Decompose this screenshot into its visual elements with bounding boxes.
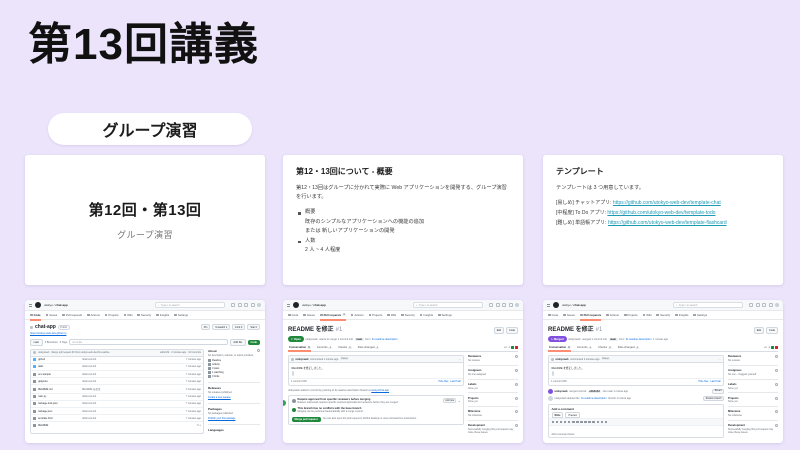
pr-comment: utokyoweb commented 1 minute ago Owner ⋯… <box>288 355 464 386</box>
diff-bar-del <box>515 346 518 349</box>
tab-actions[interactable]: Actions <box>351 313 364 317</box>
gear-icon[interactable] <box>515 424 518 427</box>
tab-projects[interactable]: Projects <box>105 313 119 317</box>
table-row[interactable]: package.jsonInitial commit7 minutes ago <box>31 408 203 415</box>
code-button[interactable]: Code <box>506 327 518 333</box>
fork-icon <box>208 375 211 378</box>
file-commit-message[interactable]: Initial commit <box>82 373 184 376</box>
slide2-title: 第12・13回について - 概要 <box>296 166 510 177</box>
sidebar-section-labels: LabelsNone yet <box>728 383 778 394</box>
repo-nav-tabs: Code Issues Pull requests Actions Projec… <box>543 311 783 320</box>
packages-title: Packages <box>208 407 222 411</box>
template-link-prefix: [易しめ] チャットアプリ: <box>556 200 613 206</box>
gear-icon[interactable] <box>775 355 778 358</box>
plus-icon[interactable] <box>231 303 235 307</box>
tab-preview[interactable]: Preview <box>565 412 580 418</box>
file-name[interactable]: .gitignore <box>38 380 80 383</box>
file-name[interactable]: main.py <box>38 395 80 398</box>
commit-count[interactable]: 10 Commits <box>188 351 201 354</box>
task-list-icon[interactable] <box>584 421 587 424</box>
tab-wiki[interactable]: Wiki <box>643 313 652 317</box>
tab-settings[interactable]: Settings <box>174 313 188 317</box>
avatar[interactable] <box>257 303 261 307</box>
pr-author[interactable]: utokyoweb <box>568 338 580 341</box>
diff-bar-add <box>771 346 774 349</box>
menu-icon[interactable] <box>547 304 550 307</box>
issues-icon[interactable] <box>496 303 500 307</box>
commit-author[interactable]: utokyoweb <box>38 351 49 354</box>
shield-icon <box>137 314 140 317</box>
section-text: No reviews <box>728 359 778 362</box>
pin-button[interactable]: Pin <box>201 324 211 330</box>
list-item[interactable]: Readme <box>208 359 260 362</box>
tab-checks[interactable]: Checks0 <box>337 346 352 349</box>
eye-icon <box>208 371 211 374</box>
diff-bar-del <box>775 346 778 349</box>
badge-count: 1 <box>588 347 592 349</box>
sidebar-section-development: DevelopmentSuccessfully merging this pul… <box>728 424 778 437</box>
tab-label: Conversation <box>549 346 566 349</box>
template-link-chat[interactable]: https://github.com/utokyo-web-dev/templa… <box>613 200 721 206</box>
breadcrumb-repo[interactable]: chat-app <box>55 303 68 307</box>
comment-header: utokyoweb commented 2 minutes ago Owner … <box>549 356 723 363</box>
gear-icon[interactable] <box>515 369 518 372</box>
pr-head-branch[interactable]: fix-readme-description <box>372 338 398 341</box>
file-listing: utokyoweb Merge pull request #2 from uto… <box>30 349 204 434</box>
tags-count[interactable]: 0 Tags <box>60 341 68 344</box>
menu-icon[interactable] <box>29 304 32 307</box>
tab-issues[interactable]: Issues <box>46 313 58 317</box>
table-row[interactable]: package-lock.jsonInitial commit7 minutes… <box>31 401 203 408</box>
section-text: None yet <box>468 387 518 390</box>
pr-number: #1 <box>596 327 603 333</box>
search-placeholder: Type / to search <box>161 304 179 307</box>
avatar[interactable] <box>291 358 294 361</box>
tab-issues[interactable]: Issues <box>563 313 575 317</box>
diff-stat: +2 -1 <box>504 346 518 349</box>
search-input[interactable]: ⌕ Type / to search <box>673 302 743 308</box>
template-link-prefix: [難しめ] 単語帳アプリ: <box>556 220 608 226</box>
slide-card-template[interactable]: テンプレート テンプレートは 3 つ用意しています。 [易しめ] チャットアプリ… <box>543 155 783 285</box>
tab-projects[interactable]: Projects <box>624 313 638 317</box>
file-name[interactable]: .env.sample <box>38 373 80 376</box>
pr-base-branch[interactable]: main <box>355 338 364 341</box>
table-row[interactable]: README.mdREADME を修正2 minutes ago <box>31 385 203 393</box>
pull-request-icon <box>62 314 65 317</box>
last-push-link[interactable]: Last Push <box>710 380 721 383</box>
screenshot-github-pr-open[interactable]: utokyo / chat-app ⌕ Type / to search Cod… <box>283 300 523 443</box>
badge-count: 1 <box>635 347 639 349</box>
play-icon <box>606 314 609 317</box>
file-commit-message[interactable]: README を修正 <box>82 387 184 391</box>
tab-files-changed[interactable]: Files changed1 <box>617 346 639 349</box>
pr-subheader: ⑂Open utokyoweb wants to merge 1 commit … <box>288 336 518 342</box>
file-time: 7 minutes ago <box>186 373 201 376</box>
tab-insights[interactable]: Insights <box>420 313 433 317</box>
tab-label: Pull requests <box>324 313 342 317</box>
comment-author[interactable]: utokyoweb <box>296 358 309 361</box>
languages-section: Languages <box>208 424 260 432</box>
slide2-bullet-label: 人数 <box>296 237 510 246</box>
breadcrumb-owner[interactable]: utokyo <box>44 303 53 307</box>
tab-label: Conversation <box>289 346 306 349</box>
tab-pull-requests[interactable]: Pull requests <box>580 313 601 317</box>
hide-files-link[interactable]: Hide files <box>439 380 449 383</box>
avatar[interactable] <box>515 303 519 307</box>
sidebar-section-reviewers: ReviewersNo reviews <box>468 355 518 366</box>
tab-label: Files changed <box>358 346 375 349</box>
github-logo-icon[interactable] <box>553 302 559 308</box>
section-text: No milestone <box>468 414 518 417</box>
list-item[interactable]: 0 stars <box>208 367 260 370</box>
add-comment-footer: Add a comment below <box>549 433 723 437</box>
pr-header: README を修正 #1 Edit Code <box>288 324 518 334</box>
tab-actions[interactable]: Actions <box>87 313 100 317</box>
pr-title: README を修正 <box>548 324 594 333</box>
delete-event-branch[interactable]: fix-readme-description <box>581 397 607 400</box>
image-icon[interactable] <box>592 421 595 424</box>
github-logo-icon[interactable] <box>293 302 299 308</box>
issues-icon[interactable] <box>756 303 760 307</box>
revert-button[interactable]: Revert <box>712 389 724 394</box>
topbar-icon-group <box>489 303 519 307</box>
repo-header: chat-app Public Pin Unwatch 1 Fork 0 Sta… <box>30 324 260 330</box>
avatar <box>33 351 36 354</box>
folder-icon <box>33 358 36 361</box>
readme-bar[interactable]: README✎ ≡ <box>31 422 203 428</box>
template-link-flashcard[interactable]: https://github.com/utokyo-web-dev/templa… <box>608 220 727 226</box>
languages-heading: Languages <box>208 428 260 432</box>
table-row[interactable]: template.htmlInitial commit7 minutes ago <box>31 415 203 422</box>
file-commit-message[interactable]: Initial commit <box>82 380 184 383</box>
star-button[interactable]: Star 0 <box>247 324 260 330</box>
tab-code[interactable]: Code <box>288 313 298 317</box>
table-icon <box>105 314 108 317</box>
avatar[interactable] <box>775 303 779 307</box>
file-icon <box>33 373 36 376</box>
repo-description-link[interactable]: https://utokyo-web-dev.github.io <box>30 332 260 335</box>
rule-icon <box>292 399 296 403</box>
tab-label: Security <box>405 313 415 317</box>
file-time: 7 minutes ago <box>186 402 201 405</box>
tab-conversation[interactable]: Conversation0 <box>288 346 311 349</box>
section-title: Reviewers <box>468 355 481 358</box>
pulse-icon <box>208 363 211 366</box>
tab-security[interactable]: Security <box>137 313 151 317</box>
tab-security[interactable]: Security <box>401 313 415 317</box>
mention-icon[interactable] <box>588 421 591 424</box>
file-commit-message[interactable]: Initial commit <box>82 417 184 420</box>
add-comment-title: Add a comment <box>549 405 723 412</box>
sidebar-section-assignees: AssigneesNo one – Suggest yourself <box>728 369 778 380</box>
commit-message[interactable]: Merge pull request #2 from utokyo-web-de… <box>51 351 109 354</box>
tab-security[interactable]: Security <box>656 313 670 317</box>
file-commit-message[interactable]: Initial commit <box>82 358 184 361</box>
add-reaction-icon[interactable] <box>552 371 554 376</box>
code-button[interactable]: Code <box>766 327 778 333</box>
search-icon: ⌕ <box>416 304 417 307</box>
pr-base-branch[interactable]: main <box>609 338 618 341</box>
chevron-down-icon[interactable]: ⌄ <box>458 399 461 403</box>
tab-checks[interactable]: Checks0 <box>597 346 612 349</box>
file-name[interactable]: static <box>38 365 80 368</box>
go-to-file-input[interactable]: Go to file <box>69 339 228 345</box>
timeline-repo-link[interactable]: utokyo/chat-app <box>371 389 389 392</box>
hide-files-link[interactable]: Hide files <box>699 380 709 383</box>
file-commit-message[interactable]: Initial commit <box>82 402 184 405</box>
delete-event-text: utokyoweb deleted the <box>555 397 580 400</box>
book-icon <box>387 314 390 317</box>
tab-files-changed[interactable]: Files changed1 <box>357 346 379 349</box>
list-item[interactable]: Activity <box>208 363 260 366</box>
edit-button[interactable]: Edit <box>754 327 764 333</box>
tab-label: Projects <box>372 313 382 317</box>
inbox-icon[interactable] <box>251 303 255 307</box>
status-icon: ⑂ <box>291 337 293 341</box>
heading-icon[interactable] <box>552 421 555 424</box>
inbox-icon[interactable] <box>509 303 513 307</box>
screenshot-github-pr-merged[interactable]: utokyo / chat-app ⌕ Type / to search Cod… <box>543 300 783 443</box>
sidebar-section-projects: ProjectsNone yet <box>468 397 518 408</box>
inbox-icon[interactable] <box>769 303 773 307</box>
branch-selector[interactable]: main <box>30 339 43 346</box>
avatar[interactable] <box>551 358 554 361</box>
tab-pull-requests[interactable]: Pull requests1 <box>320 313 346 317</box>
breadcrumb[interactable]: utokyo / chat-app <box>302 303 326 307</box>
file-commit-message[interactable]: Initial commit <box>82 365 184 368</box>
table-icon <box>624 314 627 317</box>
breadcrumb-owner[interactable]: utokyo <box>562 303 571 307</box>
tab-label: Files changed <box>618 346 635 349</box>
tab-code[interactable]: Code <box>548 313 558 317</box>
gear-icon[interactable] <box>775 424 778 427</box>
slide2-bullet-line: または 新しいアプリケーションの開発 <box>296 227 510 237</box>
plus-icon[interactable] <box>489 303 493 307</box>
comment-actions[interactable]: ⋯ <box>459 358 461 361</box>
fork-button[interactable]: Fork 0 <box>232 324 245 330</box>
code-button[interactable]: Code <box>248 340 260 345</box>
bulleted-list-icon[interactable] <box>576 421 579 424</box>
book-icon <box>643 314 646 317</box>
play-icon <box>351 314 354 317</box>
table-row[interactable]: main.pyInitial commit7 minutes ago <box>31 394 203 401</box>
diff-bar-add <box>511 346 514 349</box>
repo-name[interactable]: chat-app <box>35 324 56 330</box>
file-icon <box>33 380 36 383</box>
slide1-subtitle: グループ演習 <box>117 228 173 241</box>
screenshot-github-repo[interactable]: utokyo / chat-app ⌕ Type / to search Cod… <box>25 300 265 443</box>
latest-commit-row[interactable]: utokyoweb Merge pull request #2 from uto… <box>31 350 203 357</box>
tab-label: Pull requests <box>584 313 602 317</box>
search-input[interactable]: ⌕ Type / to search <box>155 302 225 308</box>
more-options-icon[interactable]: ⋯ <box>459 358 461 361</box>
diff-additions: +2 <box>504 346 507 349</box>
edit-button[interactable]: Edit <box>494 327 504 333</box>
file-name[interactable]: package-lock.json <box>38 402 80 405</box>
breadcrumb[interactable]: utokyo / chat-app <box>562 303 586 307</box>
file-name[interactable]: template.html <box>38 417 80 420</box>
merge-event-text: merged commit <box>569 390 586 393</box>
breadcrumb-repo[interactable]: chat-app <box>573 303 586 307</box>
pr-tabs: Conversation0 Commits1 Checks0 Files cha… <box>548 346 778 352</box>
section-title: Development <box>728 424 745 427</box>
breadcrumb-repo[interactable]: chat-app <box>313 303 326 307</box>
table-row[interactable]: .githubInitial commit7 minutes ago <box>31 357 203 364</box>
commit-time: 2 minutes ago <box>171 351 186 354</box>
list-item: 人数 2 人 ~ 4 人程度 <box>296 237 510 256</box>
file-name[interactable]: README.md <box>38 388 80 391</box>
pull-request-icon[interactable] <box>502 303 506 307</box>
last-push-link[interactable]: Last Push <box>450 380 461 383</box>
list-item[interactable]: 1 watching <box>208 371 260 374</box>
visibility-badge: Public <box>58 325 70 330</box>
tab-label: Wiki <box>127 313 132 317</box>
branches-count[interactable]: 4 Branches <box>45 341 58 344</box>
sidebar-section-projects: ProjectsNone yet <box>728 397 778 408</box>
add-file-button[interactable]: Add file <box>230 339 246 346</box>
merge-pull-request-button[interactable]: Merge pull request <box>292 417 321 422</box>
quote-icon[interactable] <box>564 421 567 424</box>
github-logo-icon[interactable] <box>35 302 41 308</box>
merge-ok-sub: Merging can be performed automatically w… <box>298 410 364 414</box>
code-icon <box>288 314 291 317</box>
tab-settings[interactable]: Settings <box>693 313 707 317</box>
gear-icon[interactable] <box>775 369 778 372</box>
section-text: No milestone <box>728 414 778 417</box>
file-commit-message[interactable]: Initial commit <box>82 395 184 398</box>
tab-label: Checks <box>598 346 607 349</box>
file-name[interactable]: .github <box>38 358 80 361</box>
merge-note: You can also open this pull request in G… <box>323 417 417 421</box>
comment-actions[interactable]: ⋯ <box>719 358 721 361</box>
create-release-link[interactable]: Create a new release <box>208 396 231 399</box>
italic-icon[interactable] <box>560 421 563 424</box>
numbered-list-icon[interactable] <box>580 421 583 424</box>
topbar-icon-group <box>231 303 261 307</box>
restore-branch-button[interactable]: Restore branch <box>703 396 724 401</box>
bold-icon[interactable] <box>556 421 559 424</box>
gear-icon[interactable] <box>515 383 518 386</box>
table-row[interactable]: .gitignoreInitial commit7 minutes ago <box>31 378 203 385</box>
reply-icon[interactable] <box>601 421 604 424</box>
issues-icon[interactable] <box>238 303 242 307</box>
graph-icon <box>156 314 159 317</box>
table-row[interactable]: staticInitial commit7 minutes ago <box>31 364 203 371</box>
file-name[interactable]: package.json <box>38 410 80 413</box>
table-icon[interactable] <box>597 421 600 424</box>
gear-icon[interactable] <box>257 349 260 352</box>
gear-icon[interactable] <box>775 410 778 413</box>
pull-request-icon[interactable] <box>762 303 766 307</box>
merge-event-tail: into main 1 minute ago <box>603 390 628 393</box>
packages-text: No packages published <box>208 412 260 416</box>
template-link-todo[interactable]: https://github.com/utokyo-web-dev/templa… <box>607 210 715 216</box>
gear-icon[interactable] <box>515 355 518 358</box>
tab-issues[interactable]: Issues <box>303 313 315 317</box>
gear-icon[interactable] <box>515 410 518 413</box>
tab-settings[interactable]: Settings <box>438 313 452 317</box>
tab-projects[interactable]: Projects <box>369 313 383 317</box>
sidebar-section-development: DevelopmentSuccessfully merging this pul… <box>468 424 518 437</box>
merge-icon: ⑃ <box>551 337 553 341</box>
tab-commits[interactable]: Commits1 <box>316 346 332 349</box>
tab-actions[interactable]: Actions <box>606 313 619 317</box>
tab-label: Code <box>292 313 299 317</box>
tab-pull-requests[interactable]: Pull requests <box>62 313 82 317</box>
pull-request-icon[interactable] <box>244 303 248 307</box>
tab-label: Projects <box>628 313 638 317</box>
slide3-paragraph: テンプレートは 3 つ用意しています。 <box>556 184 770 193</box>
pr-number: #1 <box>336 327 343 333</box>
code-icon[interactable] <box>568 421 571 424</box>
publish-package-link[interactable]: Publish your first package <box>208 417 235 420</box>
more-options-icon[interactable]: ⋯ <box>719 358 721 361</box>
breadcrumb-owner[interactable]: utokyo <box>302 303 311 307</box>
list-item[interactable]: 0 forks <box>208 375 260 378</box>
table-row[interactable]: .env.sampleInitial commit7 minutes ago <box>31 371 203 378</box>
tab-wiki[interactable]: Wiki <box>124 313 133 317</box>
stat-label: Activity <box>212 363 220 366</box>
slide2-bullet-line: 2 人 ~ 4 人程度 <box>296 246 510 256</box>
tab-commits[interactable]: Commits1 <box>576 346 592 349</box>
slide-card-title[interactable]: 第12回・第13回 グループ演習 <box>25 155 265 285</box>
merge-event-hash[interactable]: a1b2c3d <box>588 390 601 393</box>
tab-label: Issues <box>567 313 575 317</box>
link-icon[interactable] <box>572 421 575 424</box>
saved-replies-icon[interactable] <box>605 421 608 424</box>
list-item: [難しめ] 単語帳アプリ: https://github.com/utokyo-… <box>556 219 770 229</box>
tab-write[interactable]: Write <box>552 412 564 418</box>
releases-text: No releases published <box>208 391 260 395</box>
tab-insights[interactable]: Insights <box>156 313 169 317</box>
section-title: Milestone <box>728 410 740 413</box>
commit-hash[interactable]: a1b2c3d <box>160 351 169 354</box>
check-circle-icon <box>292 408 296 412</box>
comment-author[interactable]: utokyoweb <box>556 358 569 361</box>
pr-head-branch[interactable]: fix-readme-description <box>626 338 652 341</box>
repo-nav-tabs: Code Issues Pull requests Actions Projec… <box>25 311 265 320</box>
tab-label: Insights <box>679 313 689 317</box>
commit-summary: 1 commit 0 BO <box>551 380 567 383</box>
file-time: 2 minutes ago <box>186 388 201 391</box>
pr-author[interactable]: utokyoweb <box>305 338 317 341</box>
timeline-merge-event: utokyoweb merged commit a1b2c3d into mai… <box>548 389 724 394</box>
section-title: Projects <box>468 397 479 400</box>
plus-icon[interactable] <box>749 303 753 307</box>
tab-wiki[interactable]: Wiki <box>387 313 396 317</box>
edit-icon[interactable]: ✎ ≡ <box>197 424 201 427</box>
tab-insights[interactable]: Insights <box>675 313 688 317</box>
tab-conversation[interactable]: Conversation0 <box>548 346 571 349</box>
comment-textarea[interactable] <box>549 426 723 433</box>
gear-icon[interactable] <box>775 397 778 400</box>
add-rule-button[interactable]: Add rule <box>443 398 457 403</box>
slide-card-overview[interactable]: 第12・13回について - 概要 第12・13回はグループに分かれて実際に We… <box>283 155 523 285</box>
add-reaction-icon[interactable] <box>292 371 294 376</box>
menu-icon[interactable] <box>287 304 290 307</box>
subtitle-pill: グループ演習 <box>48 113 252 145</box>
search-input[interactable]: ⌕ Type / to search <box>413 302 483 308</box>
file-commit-message[interactable]: Initial commit <box>82 410 184 413</box>
pr-subheader: ⑃Merged utokyoweb merged 1 commit into m… <box>548 336 778 342</box>
section-title: Development <box>468 424 485 427</box>
tab-code[interactable]: Code <box>30 313 41 317</box>
breadcrumb[interactable]: utokyo / chat-app <box>44 303 68 307</box>
gear-icon[interactable] <box>775 383 778 386</box>
watch-button[interactable]: Unwatch 1 <box>212 324 230 330</box>
merge-event-author[interactable]: utokyoweb <box>555 390 568 393</box>
gear-icon[interactable] <box>515 397 518 400</box>
